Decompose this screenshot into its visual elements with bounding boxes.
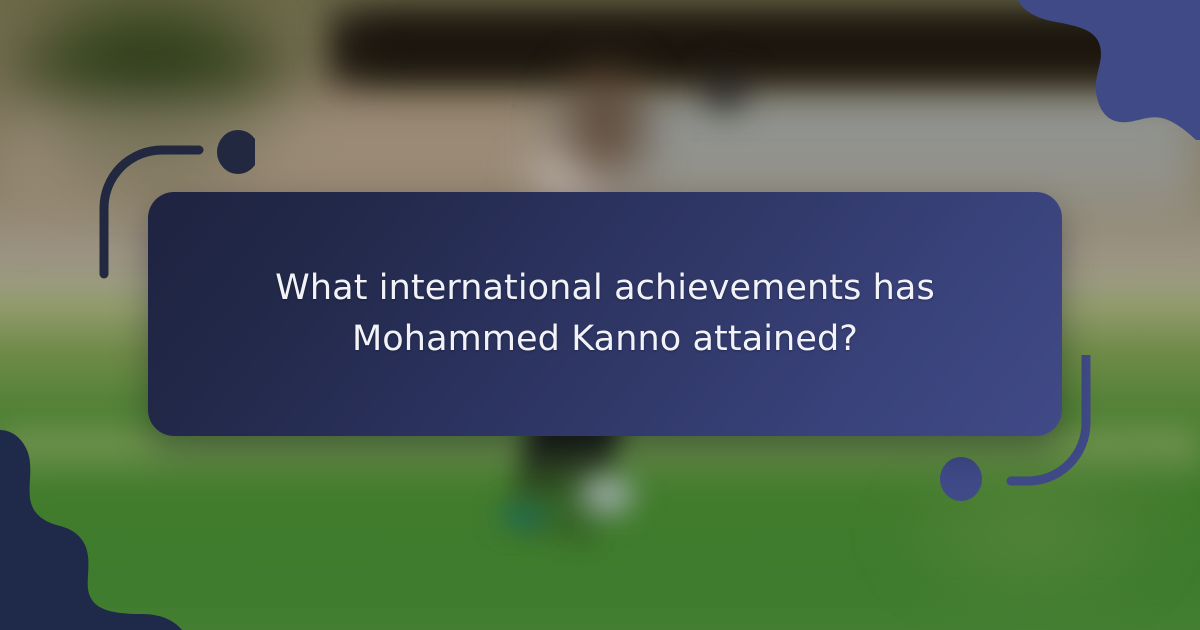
question-text: What international achievements has Moha… bbox=[215, 263, 995, 365]
decorative-dot-top-left bbox=[217, 130, 255, 174]
background-player-boot bbox=[478, 490, 568, 542]
background-soccer-ball bbox=[562, 462, 652, 534]
share-card-canvas: What international achievements has Moha… bbox=[0, 0, 1200, 630]
question-card: What international achievements has Moha… bbox=[148, 192, 1062, 436]
background-player-shadow bbox=[690, 55, 760, 125]
corner-blob-top-right bbox=[1000, 0, 1200, 140]
decorative-dot-bottom-right bbox=[940, 457, 982, 501]
corner-blob-bottom-left bbox=[0, 430, 210, 630]
